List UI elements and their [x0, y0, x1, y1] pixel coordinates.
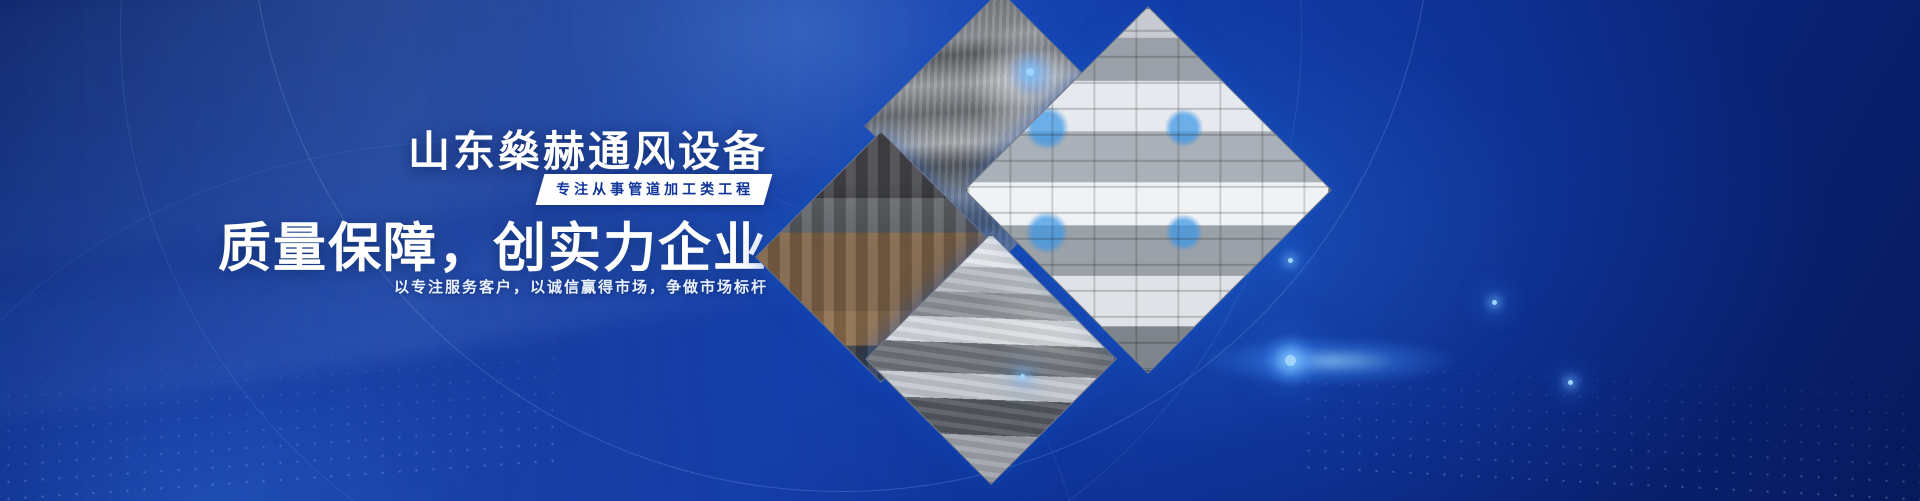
hero-text-block: 山东燊赫通风设备 专注从事管道加工类工程 质量保障，创实力企业 以专注服务客户，… [0, 0, 800, 501]
main-slogan: 质量保障，创实力企业 [0, 206, 768, 282]
dot-lower-center [1285, 355, 1296, 366]
dot-left-low [1020, 374, 1025, 379]
company-headline: 山东燊赫通风设备 [0, 118, 768, 179]
hero-banner: 山东燊赫通风设备 专注从事管道加工类工程 质量保障，创实力企业 以专注服务客户，… [0, 0, 1920, 501]
specialty-badge-label: 专注从事管道加工类工程 [556, 179, 754, 199]
dot-far-right [1492, 300, 1497, 305]
diamond-photo-collage [800, 38, 1240, 468]
dot-mid-right [1288, 258, 1293, 263]
floor-light-glow [1200, 336, 1460, 386]
sub-tagline: 以专注服务客户，以诚信赢得市场，争做市场标杆 [0, 276, 768, 297]
dot-upper-right [1026, 68, 1034, 76]
badge-row: 专注从事管道加工类工程 [0, 174, 768, 205]
specialty-badge: 专注从事管道加工类工程 [536, 174, 773, 205]
dot-right-low [1568, 380, 1573, 385]
dot-mesh-right [1300, 289, 1920, 501]
